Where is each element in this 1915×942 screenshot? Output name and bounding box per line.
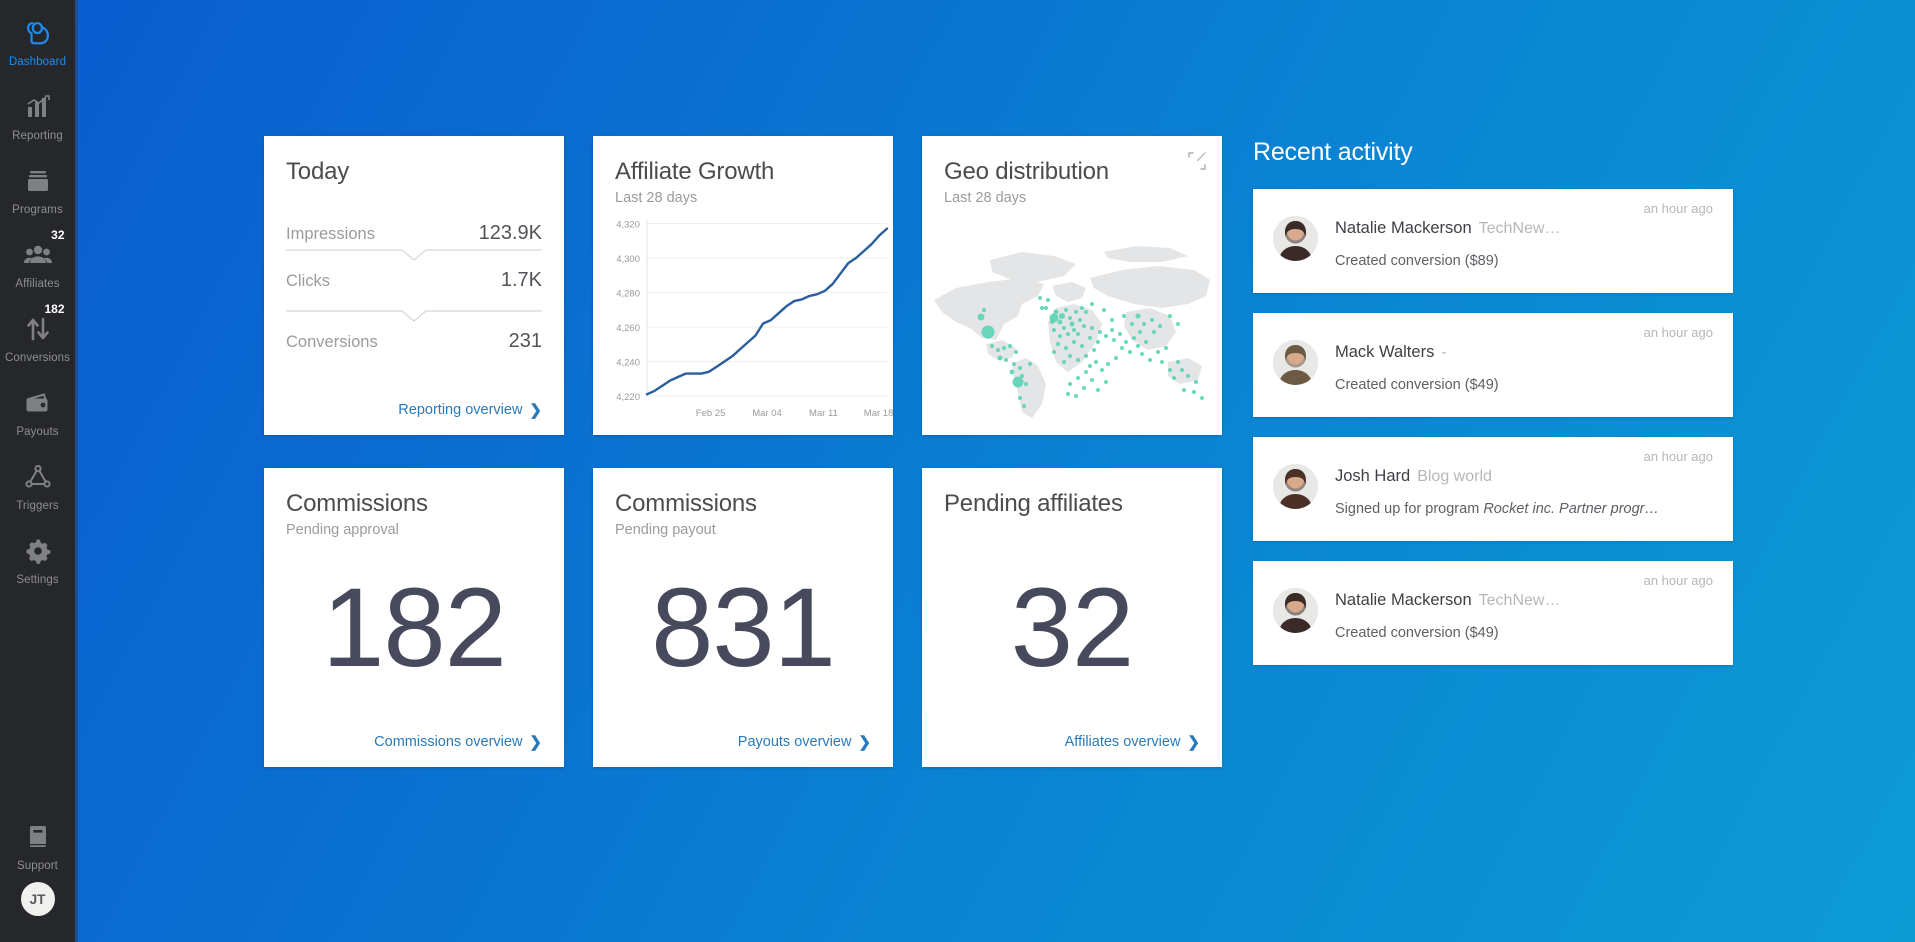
geo-distribution-card: Geo distribution Last 28 days <box>922 136 1222 435</box>
chevron-right-icon: ❯ <box>529 733 542 751</box>
wallet-icon <box>24 386 52 420</box>
world-map <box>926 212 1218 427</box>
activity-description: Created conversion ($49) <box>1335 377 1713 393</box>
chevron-right-icon: ❯ <box>1187 733 1200 751</box>
commissions-payout-card: Commissions Pending payout 831 Payouts o… <box>593 468 893 767</box>
activity-timestamp: an hour ago <box>1644 449 1713 464</box>
affiliate-growth-card: Affiliate Growth Last 28 days 4,2204,240… <box>593 136 893 435</box>
card-subtitle: Pending payout <box>615 522 871 538</box>
line-chart: 4,2204,2404,2604,2804,3004,320Feb 25Mar … <box>603 214 893 426</box>
activity-user-org: TechNew… <box>1479 592 1561 610</box>
arrows-icon <box>25 312 51 346</box>
metric-label: Impressions <box>286 225 375 244</box>
metric-row-impressions: Impressions 123.9K <box>286 222 542 245</box>
activity-list: an hour agoNatalie MackersonTechNew…Crea… <box>1253 189 1733 665</box>
sidebar-item-payouts[interactable]: Payouts <box>0 374 77 448</box>
activity-item[interactable]: an hour agoNatalie MackersonTechNew…Crea… <box>1253 561 1733 665</box>
card-title: Commissions <box>286 490 542 518</box>
metric-value: 1.7K <box>501 269 542 292</box>
svg-text:Mar 04: Mar 04 <box>752 408 782 419</box>
metric-label: Clicks <box>286 272 330 291</box>
sidebar-item-label: Reporting <box>12 130 63 142</box>
sidebar-item-label: Settings <box>16 574 58 586</box>
activity-avatar <box>1273 588 1318 633</box>
avatar[interactable]: JT <box>21 882 55 916</box>
activity-name-row: Josh HardBlog world <box>1335 467 1713 486</box>
svg-text:4,260: 4,260 <box>616 323 640 334</box>
activity-user-name: Mack Walters <box>1335 343 1434 362</box>
book-icon <box>26 820 50 854</box>
activity-user-name: Natalie Mackerson <box>1335 591 1472 610</box>
activity-user-org: TechNew… <box>1479 220 1561 238</box>
sidebar-item-label: Programs <box>12 204 63 216</box>
pending-affiliates-card: Pending affiliates 32 Affiliates overvie… <box>922 468 1222 767</box>
activity-description: Created conversion ($49) <box>1335 625 1713 641</box>
sidebar-item-label: Affiliates <box>15 278 59 290</box>
card-subtitle: Last 28 days <box>944 190 1200 206</box>
commissions-approval-card: Commissions Pending approval 182 Commiss… <box>264 468 564 767</box>
big-number: 32 <box>922 572 1222 684</box>
funnel-divider <box>286 306 542 320</box>
sidebar-item-label: Conversions <box>5 352 70 364</box>
funnel-divider <box>286 245 542 259</box>
chevron-right-icon: ❯ <box>529 401 542 419</box>
card-title: Today <box>286 158 542 186</box>
activity-item[interactable]: an hour agoJosh HardBlog worldSigned up … <box>1253 437 1733 541</box>
conversions-badge: 182 <box>44 302 64 316</box>
activity-avatar <box>1273 216 1318 261</box>
link-label: Affiliates overview <box>1065 734 1181 750</box>
payouts-overview-link[interactable]: Payouts overview ❯ <box>738 733 871 751</box>
commissions-overview-link[interactable]: Commissions overview ❯ <box>374 733 542 751</box>
svg-text:Feb 25: Feb 25 <box>696 408 726 419</box>
activity-timestamp: an hour ago <box>1644 325 1713 340</box>
avatar-initials: JT <box>30 892 46 907</box>
big-number: 831 <box>593 572 893 684</box>
svg-text:Mar 18: Mar 18 <box>864 408 893 419</box>
activity-description: Signed up for program Rocket inc. Partne… <box>1335 501 1713 517</box>
bar-chart-icon <box>25 90 51 124</box>
sidebar-item-programs[interactable]: Programs <box>0 152 77 226</box>
activity-name-row: Mack Walters- <box>1335 343 1713 362</box>
chevron-right-icon: ❯ <box>858 733 871 751</box>
sidebar-item-label: Support <box>17 860 58 872</box>
svg-text:Mar 11: Mar 11 <box>809 408 838 419</box>
link-label: Payouts overview <box>738 734 852 750</box>
today-card: Today Impressions 123.9K Clicks 1.7K <box>264 136 564 435</box>
activity-item[interactable]: an hour agoMack Walters-Created conversi… <box>1253 313 1733 417</box>
affiliates-overview-link[interactable]: Affiliates overview ❯ <box>1065 733 1200 751</box>
activity-user-org: Blog world <box>1417 468 1492 486</box>
activity-name-row: Natalie MackersonTechNew… <box>1335 219 1713 238</box>
sidebar-item-conversions[interactable]: 182 Conversions <box>0 300 77 374</box>
card-subtitle: Pending approval <box>286 522 542 538</box>
sidebar-item-label: Dashboard <box>9 56 66 68</box>
sidebar-item-reporting[interactable]: Reporting <box>0 78 77 152</box>
gear-icon <box>25 534 51 568</box>
sidebar-item-label: Triggers <box>16 500 59 512</box>
card-title: Geo distribution <box>944 158 1200 186</box>
logo-icon <box>24 16 52 50</box>
sidebar-item-dashboard[interactable]: Dashboard <box>0 0 77 78</box>
sidebar-item-settings[interactable]: Settings <box>0 522 77 596</box>
activity-description: Created conversion ($89) <box>1335 253 1713 269</box>
link-label: Reporting overview <box>398 402 522 418</box>
sidebar-item-label: Payouts <box>16 426 58 438</box>
activity-avatar <box>1273 340 1318 385</box>
metric-value: 231 <box>509 330 542 353</box>
activity-user-name: Natalie Mackerson <box>1335 219 1472 238</box>
recent-activity-panel: Recent activity an hour agoNatalie Macke… <box>1253 138 1733 665</box>
triggers-icon <box>25 460 51 494</box>
activity-name-row: Natalie MackersonTechNew… <box>1335 591 1713 610</box>
card-title: Affiliate Growth <box>615 158 871 186</box>
reporting-overview-link[interactable]: Reporting overview ❯ <box>398 401 542 419</box>
card-title: Commissions <box>615 490 871 518</box>
sidebar-item-support[interactable]: Support <box>0 808 77 882</box>
sidebar-item-affiliates[interactable]: 32 Affiliates <box>0 226 77 300</box>
panel-title: Recent activity <box>1253 138 1733 167</box>
people-icon <box>24 238 52 272</box>
metric-value: 123.9K <box>479 222 542 245</box>
activity-item[interactable]: an hour agoNatalie MackersonTechNew…Crea… <box>1253 189 1733 293</box>
activity-user-name: Josh Hard <box>1335 467 1410 486</box>
svg-text:4,300: 4,300 <box>616 254 640 265</box>
card-subtitle: Last 28 days <box>615 190 871 206</box>
sidebar: Dashboard Reporting Programs 32 <box>0 0 78 942</box>
activity-avatar <box>1273 464 1318 509</box>
svg-text:4,320: 4,320 <box>616 219 640 230</box>
metric-label: Conversions <box>286 333 378 352</box>
activity-user-org: - <box>1441 344 1446 362</box>
svg-text:4,240: 4,240 <box>616 357 640 368</box>
link-label: Commissions overview <box>374 734 522 750</box>
affiliates-badge: 32 <box>51 228 64 242</box>
activity-program-name: Rocket inc. Partner progr… <box>1483 501 1659 517</box>
metric-row-clicks: Clicks 1.7K <box>286 269 542 292</box>
external-link-icon[interactable] <box>1188 152 1206 175</box>
sidebar-item-triggers[interactable]: Triggers <box>0 448 77 522</box>
svg-text:4,220: 4,220 <box>616 392 640 403</box>
svg-text:4,280: 4,280 <box>616 288 640 299</box>
folder-icon <box>25 164 51 198</box>
metric-row-conversions: Conversions 231 <box>286 330 542 353</box>
card-title: Pending affiliates <box>944 490 1200 518</box>
activity-timestamp: an hour ago <box>1644 573 1713 588</box>
activity-timestamp: an hour ago <box>1644 201 1713 216</box>
big-number: 182 <box>264 572 564 684</box>
